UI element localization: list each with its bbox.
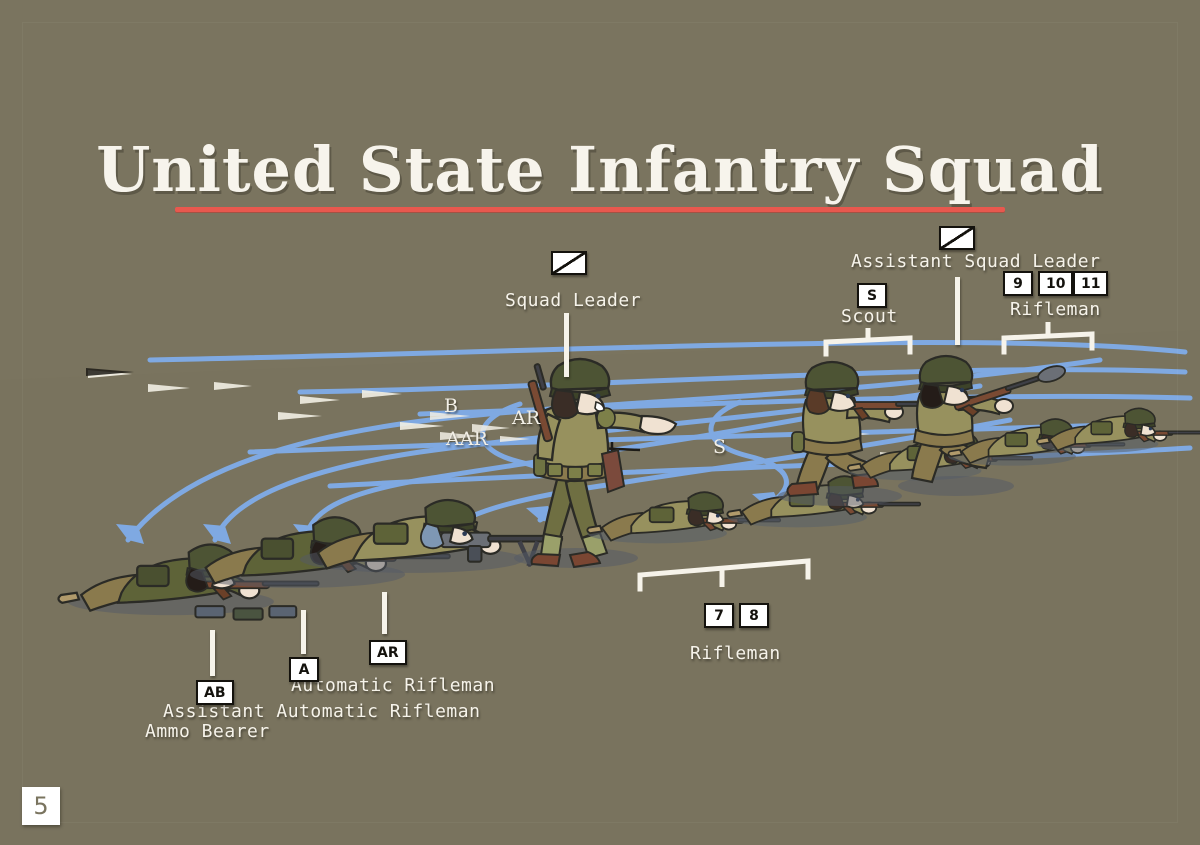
leader-line-squad-leader bbox=[564, 313, 569, 377]
bracket-rifleman-center bbox=[636, 553, 812, 593]
badge-assistant-automatic-rifleman: A bbox=[289, 657, 319, 682]
badge-automatic-rifleman: AR bbox=[369, 640, 407, 665]
callout-label-rifleman-center: Rifleman bbox=[690, 643, 781, 664]
badge-rifleman-7: 7 bbox=[704, 603, 734, 628]
callout-label-ammo-bearer: Ammo Bearer bbox=[145, 721, 270, 742]
callout-label-scout: Scout bbox=[841, 306, 898, 327]
path-letter-ar: AR bbox=[512, 407, 540, 429]
path-letter-aar: AAR bbox=[446, 428, 488, 450]
badge-rifleman-9: 9 bbox=[1003, 271, 1033, 296]
badge-rifleman-11: 11 bbox=[1073, 271, 1108, 296]
rank-slash-icon bbox=[551, 251, 587, 275]
infographic-page: United State Infantry Squad Squad Leader… bbox=[0, 0, 1200, 845]
page-title: United State Infantry Squad bbox=[0, 133, 1200, 206]
rank-slash-icon bbox=[939, 226, 975, 250]
leader-line-automatic-rifleman bbox=[382, 592, 387, 634]
title-underline bbox=[175, 207, 1005, 212]
leader-line-assistant-squad-leader bbox=[955, 277, 960, 345]
badge-ammo-bearer: AB bbox=[196, 680, 234, 705]
badge-rifleman-8: 8 bbox=[739, 603, 769, 628]
path-letter-b: B bbox=[444, 395, 458, 417]
badge-scout-s: S bbox=[857, 283, 887, 308]
callout-label-rifleman-right: Rifleman bbox=[1010, 299, 1101, 320]
callout-label-automatic-rifleman: Automatic Rifleman bbox=[291, 675, 495, 696]
callout-label-assistant-squad-leader: Assistant Squad Leader bbox=[851, 251, 1100, 272]
leader-line-ammo-bearer bbox=[210, 630, 215, 676]
path-letter-s: S bbox=[713, 436, 726, 458]
leader-line-assistant-automatic-rifleman bbox=[301, 610, 306, 654]
bracket-rifleman-right bbox=[1000, 322, 1096, 352]
badge-rifleman-10: 10 bbox=[1038, 271, 1073, 296]
bracket-scout bbox=[822, 328, 914, 356]
page-number: 5 bbox=[22, 787, 60, 825]
page-number-value: 5 bbox=[33, 794, 48, 818]
callout-label-squad-leader: Squad Leader bbox=[505, 290, 641, 311]
